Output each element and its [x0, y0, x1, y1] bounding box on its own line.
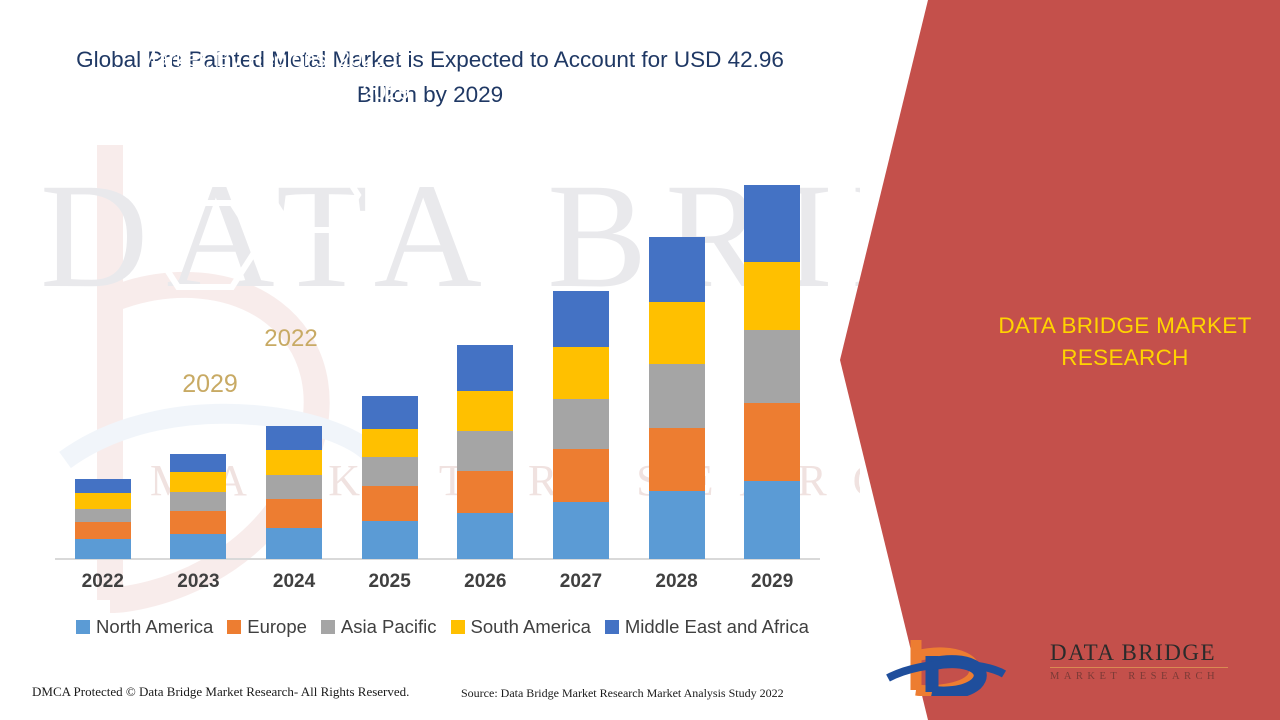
bar-column [649, 237, 705, 559]
chart-legend: North AmericaEuropeAsia PacificSouth Ame… [55, 616, 830, 638]
bar-segment [744, 481, 800, 559]
bar-column [553, 291, 609, 559]
bar-segment [75, 493, 131, 509]
bar-segment [266, 499, 322, 528]
legend-label: South America [471, 616, 591, 638]
bar-segment [362, 429, 418, 458]
bar-segment [649, 428, 705, 492]
legend-label: Europe [247, 616, 307, 638]
x-axis-tick-2028: 2028 [632, 571, 722, 593]
legend-item: South America [451, 616, 591, 638]
legend-label: North America [96, 616, 213, 638]
bar-segment [457, 471, 513, 513]
bar-segment [649, 364, 705, 428]
bar-segment [553, 291, 609, 347]
bar-segment [362, 521, 418, 559]
bar-segment [553, 347, 609, 399]
bar-segment [649, 302, 705, 364]
legend-item: Europe [227, 616, 307, 638]
x-axis-tick-2025: 2025 [345, 571, 435, 593]
bar-segment [266, 450, 322, 474]
bar-segment [75, 539, 131, 559]
bar-segment [553, 399, 609, 449]
bar-segment [457, 391, 513, 431]
bar-column [744, 185, 800, 559]
panel-background [840, 0, 1280, 720]
page-title: Global Pre Painted Metal Market is Expec… [60, 42, 800, 112]
stacked-bar-chart [55, 150, 820, 559]
x-axis-tick-2022: 2022 [58, 571, 148, 593]
bar-segment [744, 262, 800, 330]
legend-item: North America [76, 616, 213, 638]
bar-segment [266, 426, 322, 450]
bar-segment [744, 403, 800, 480]
bar-segment [553, 449, 609, 501]
copyright-notice: DMCA Protected © Data Bridge Market Rese… [32, 684, 409, 700]
bar-segment [362, 486, 418, 521]
bar-segment [75, 479, 131, 493]
x-axis-tick-2024: 2024 [249, 571, 339, 593]
bar-segment [362, 457, 418, 486]
bar-segment [75, 509, 131, 523]
source-notice: Source: Data Bridge Market Research Mark… [461, 686, 784, 701]
bar-segment [649, 491, 705, 559]
bar-segment [170, 454, 226, 472]
bar-segment [75, 522, 131, 539]
bar-segment [457, 345, 513, 391]
chart-panel: Global Pre Painted Metal Market is Expec… [0, 0, 870, 720]
bar-column [75, 479, 131, 559]
bar-segment [744, 185, 800, 262]
bar-column [170, 454, 226, 559]
bar-column [266, 426, 322, 559]
x-axis-tick-2027: 2027 [536, 571, 626, 593]
bar-segment [362, 396, 418, 428]
bar-segment [744, 330, 800, 403]
legend-swatch-icon [76, 620, 90, 634]
bar-segment [266, 528, 322, 559]
bar-segment [266, 475, 322, 499]
bar-segment [649, 237, 705, 302]
legend-item: Asia Pacific [321, 616, 437, 638]
bar-column [362, 396, 418, 559]
bar-segment [170, 511, 226, 534]
legend-swatch-icon [227, 620, 241, 634]
bar-column [457, 345, 513, 559]
legend-swatch-icon [321, 620, 335, 634]
x-axis-tick-labels: 20222023202420252026202720282029 [55, 566, 820, 596]
legend-label: Middle East and Africa [625, 616, 809, 638]
bar-segment [170, 472, 226, 492]
bar-segment [553, 502, 609, 559]
x-axis-tick-2026: 2026 [440, 571, 530, 593]
x-axis-tick-2023: 2023 [153, 571, 243, 593]
bar-segment [170, 534, 226, 559]
bar-segment [170, 492, 226, 511]
legend-swatch-icon [605, 620, 619, 634]
x-axis-tick-2029: 2029 [727, 571, 817, 593]
legend-swatch-icon [451, 620, 465, 634]
legend-item: Middle East and Africa [605, 616, 809, 638]
branding-panel [840, 0, 1280, 720]
bar-segment [457, 513, 513, 559]
bar-segment [457, 431, 513, 471]
legend-label: Asia Pacific [341, 616, 437, 638]
